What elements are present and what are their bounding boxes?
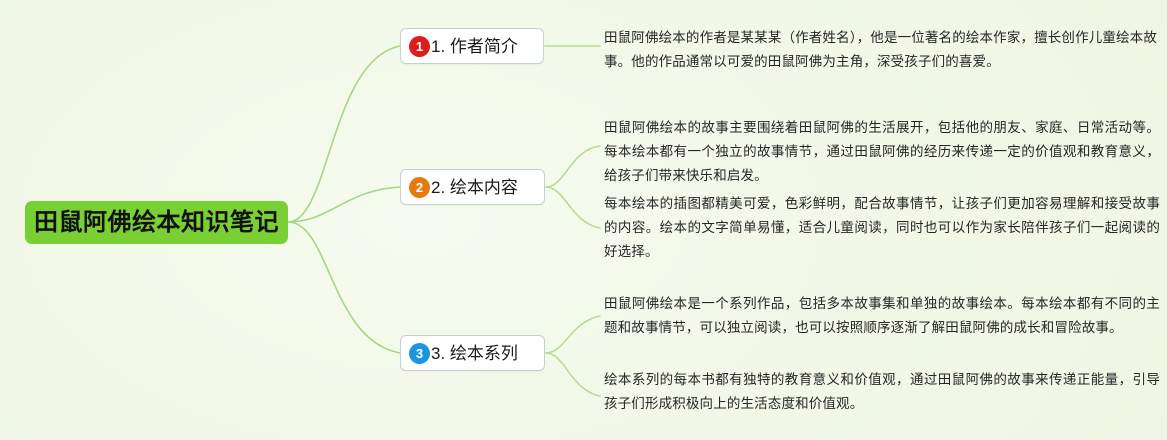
branch-2-number-badge: 2 — [409, 177, 430, 198]
mindmap-canvas: 田鼠阿佛绘本知识笔记 1 1. 作者简介 2 2. 绘本内容 3 3. 绘本系列… — [0, 0, 1167, 440]
edge-root-to-branch-3 — [288, 222, 400, 353]
branch-3-number-badge: 3 — [409, 343, 430, 364]
leaf-node-3-2[interactable]: 绘本系列的每本书都有独特的教育意义和价值观，通过田鼠阿佛的故事来传递正能量，引导… — [604, 368, 1160, 416]
branch-node-1[interactable]: 1 1. 作者简介 — [400, 28, 544, 64]
edge-root-to-branch-2 — [288, 187, 400, 222]
branch-node-3[interactable]: 3 3. 绘本系列 — [400, 335, 545, 371]
edge-branch-3-to-leaf-3-2 — [546, 353, 600, 396]
edge-branch-2-to-leaf-2-1 — [546, 146, 600, 187]
leaf-node-1-1[interactable]: 田鼠阿佛绘本的作者是某某某（作者姓名），他是一位著名的绘本作家，擅长创作儿童绘本… — [604, 26, 1157, 74]
leaf-node-2-1[interactable]: 田鼠阿佛绘本的故事主要围绕着田鼠阿佛的生活展开，包括他的朋友、家庭、日常活动等。… — [604, 116, 1160, 188]
branch-1-number-badge: 1 — [409, 36, 430, 57]
branch-1-label: 1. 作者简介 — [431, 38, 518, 55]
branch-node-2[interactable]: 2 2. 绘本内容 — [400, 169, 545, 205]
root-node[interactable]: 田鼠阿佛绘本知识笔记 — [25, 201, 288, 244]
leaf-node-2-2[interactable]: 每本绘本的插图都精美可爱，色彩鲜明，配合故事情节，让孩子们更加容易理解和接受故事… — [604, 192, 1160, 264]
root-node-label: 田鼠阿佛绘本知识笔记 — [34, 211, 279, 235]
leaf-node-3-1[interactable]: 田鼠阿佛绘本是一个系列作品，包括多本故事集和单独的故事绘本。每本绘本都有不同的主… — [604, 292, 1160, 340]
edge-branch-2-to-leaf-2-2 — [546, 187, 600, 228]
edge-branch-3-to-leaf-3-1 — [546, 316, 600, 353]
branch-3-label: 3. 绘本系列 — [431, 345, 518, 362]
branch-2-label: 2. 绘本内容 — [431, 179, 518, 196]
edge-root-to-branch-1 — [288, 46, 400, 222]
